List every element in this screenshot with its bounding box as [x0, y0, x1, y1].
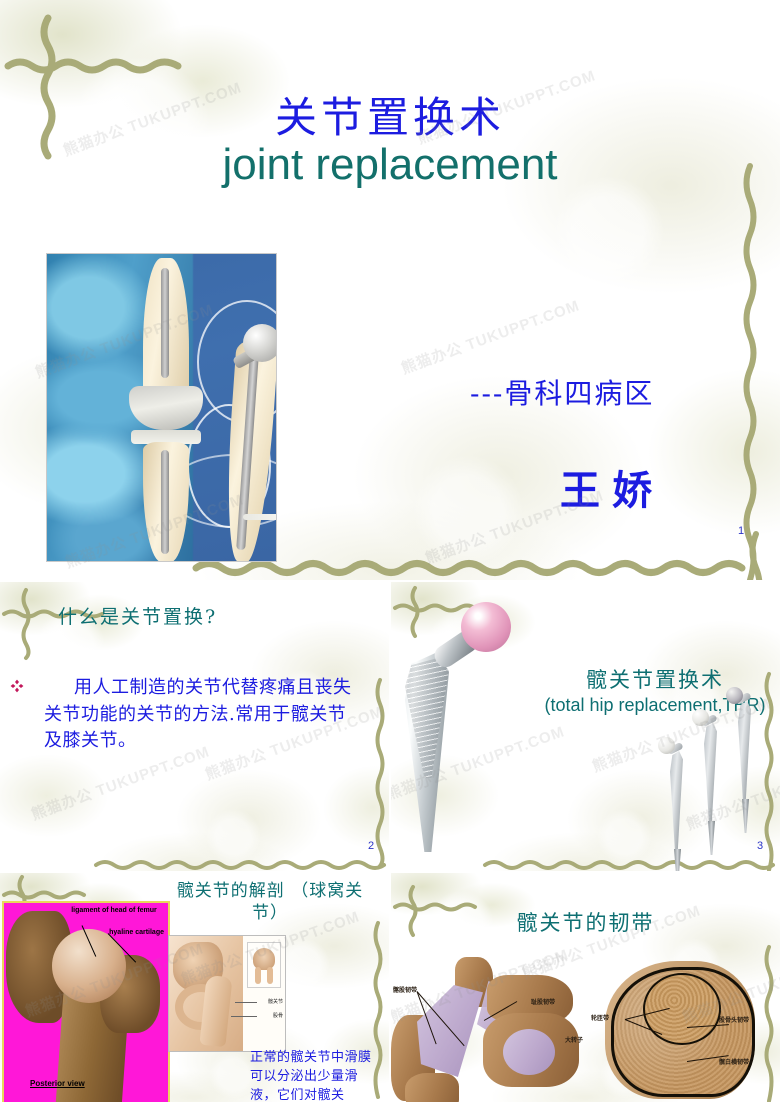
hip-ligament-illustration: 髂股韧带 耻股韧带 轮匝带 股骨头韧带 髋白横韧带 大转子	[391, 957, 780, 1102]
slide-5: 髋关节的韧带 髂股韧带 耻股韧带 轮匝带	[391, 873, 780, 1102]
hip-anatomy-atlas-image: 髋关节 股骨	[168, 935, 286, 1052]
slide-2-title: 什么是关节置换?	[58, 602, 217, 629]
wavy-border-right	[742, 166, 758, 580]
prosthesis-stem	[738, 701, 751, 805]
slide-4-note-text: 正常的髋关节中滑膜可以分泌出少量滑液，它们对髋关	[250, 1049, 380, 1102]
label-pubofemoral: 耻股韧带	[531, 997, 555, 1006]
slide-2-page-number: 2	[368, 840, 374, 852]
slide-1-author: 王娇	[560, 458, 664, 516]
slide-1-page-number: 1	[738, 525, 744, 537]
prosthesis-ball	[726, 687, 743, 704]
ligament-cross-section-panel: 轮匝带 股骨头韧带 髋白横韧带 大转子	[591, 957, 780, 1102]
prosthesis-tip	[742, 799, 749, 833]
watermark: 熊猫办公 TUKUPPT.COM	[398, 294, 582, 378]
label-greater-trochanter: 大转子	[565, 1035, 583, 1044]
slide-1-title-cn: 关节置换术	[0, 96, 780, 140]
cadaver-label-view: Posterior view	[30, 1079, 85, 1088]
label-leader-line	[231, 1016, 257, 1017]
wavy-border-bottom	[485, 858, 777, 871]
leg-illustration	[267, 967, 273, 984]
label-transverse: 髋白横韧带	[719, 1057, 749, 1066]
prosthesis-tip	[708, 821, 715, 855]
slide-1: 关节置换术 joint replacement ---骨科四病区 王娇 1 熊猫…	[0, 0, 780, 580]
prosthesis-ball	[692, 709, 709, 726]
slide-4: 髋关节的解剖 （球窝关节） ligament of head of femur …	[0, 873, 389, 1102]
femoral-rod	[161, 268, 169, 378]
atlas-label-joint: 髋关节	[268, 998, 283, 1005]
hip-prosthesis-large	[393, 596, 525, 858]
surgical-probe	[243, 514, 277, 520]
atlas-main-panel	[169, 936, 243, 1051]
cadaver-label-cartilage: hyaline cartilage	[86, 929, 164, 937]
label-iliofemoral: 髂股韧带	[393, 985, 417, 994]
prosthesis-stem	[670, 751, 683, 855]
wavy-border-bottom	[196, 556, 762, 580]
slide-3: 髋关节置换术 (total hip replacement,THR) 3 熊猫办…	[391, 582, 780, 871]
prosthesis-ceramic-ball	[461, 602, 511, 652]
tibial-rod	[161, 450, 169, 554]
acetabular-fossa	[503, 1029, 555, 1075]
slide-3-page-number: 3	[757, 840, 763, 852]
knee-implant-photo	[46, 253, 277, 562]
femoral-head-cross-section	[643, 973, 721, 1045]
label-zona-orbicularis: 轮匝带	[591, 1013, 609, 1022]
hip-ball-component	[243, 324, 277, 362]
prosthesis-stem	[704, 723, 717, 827]
wavy-border-bottom	[96, 858, 386, 871]
prosthesis-ball	[658, 737, 675, 754]
slide-2-body-text: 用人工制造的关节代替疼痛且丧失关节功能的关节的方法.常用于髋关节及膝关节。	[44, 675, 364, 755]
atlas-label-bone: 股骨	[273, 1012, 283, 1019]
slide-4-title: 髋关节的解剖 （球窝关节）	[170, 880, 370, 924]
slide-1-title-block: 关节置换术 joint replacement	[0, 96, 780, 188]
diamond-bullet-icon	[10, 679, 24, 693]
ligament-anterior-panel: 髂股韧带 耻股韧带	[391, 957, 591, 1102]
label-head-ligament: 股骨头韧带	[719, 1015, 749, 1024]
cadaver-hip-photo: ligament of head of femur hyaline cartil…	[2, 901, 170, 1102]
femur-bone	[405, 1073, 459, 1102]
wavy-border-right	[374, 680, 386, 866]
slide-1-department: ---骨科四病区	[470, 372, 654, 412]
label-leader-line	[235, 1002, 257, 1003]
slide-5-title: 髋关节的韧带	[391, 907, 780, 937]
slide-2: 什么是关节置换? 用人工制造的关节代替疼痛且丧失关节功能的关节的方法.常用于髋关…	[0, 582, 389, 871]
cadaver-label-ligament: ligament of head of femur	[66, 907, 162, 915]
prosthesis-tip	[674, 849, 681, 871]
leg-illustration	[255, 967, 261, 984]
hip-prosthesis-trio	[658, 687, 770, 857]
atlas-inset-pelvis	[247, 942, 281, 988]
slide-1-title-en: joint replacement	[0, 142, 780, 188]
